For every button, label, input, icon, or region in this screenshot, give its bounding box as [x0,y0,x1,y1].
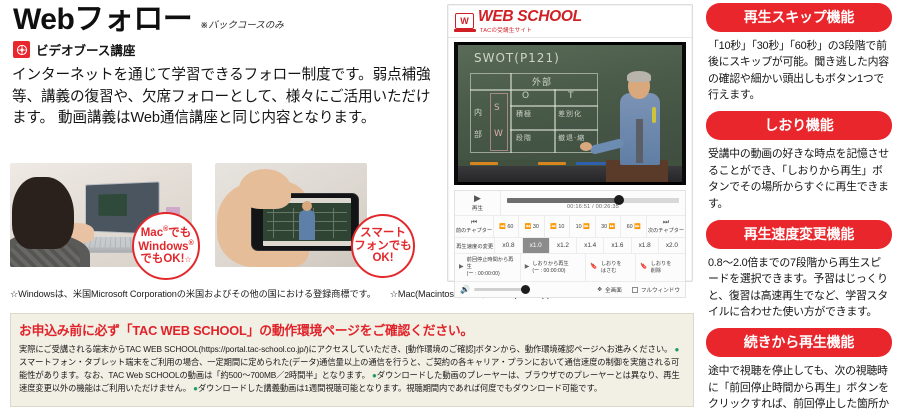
speed-option-x14[interactable]: x1.4 [577,238,604,253]
web-school-logo: WEB SCHOOL [478,9,582,25]
badge-mac-windows-ok: Mac®でも Windows® でもOK!☆ [132,212,200,280]
fullwindow-checkbox[interactable]: フルウィンドウ [632,286,680,294]
badge-phone-line2: フォンでも [354,240,412,253]
volume-row: 🔊 ✥ 全画面 フルウィンドウ [455,282,685,297]
feature-title: しおり機能 [706,111,892,140]
skip-row: ⏮ 前のチャプター ⏪ 60 ⏪ 30 ⏪ 10 10 ⏩ 30 ⏩ 60 ⏩ … [455,216,685,238]
next-chapter-button[interactable]: ⏭ 次のチャプター [647,216,685,237]
trademark-windows: ☆Windowsは、米国Microsoft Corporationの米国およびそ… [10,289,376,299]
badge-mac-line1: Mac®でも [141,226,192,240]
seek-wrap: 00:16:51 / 00:26:35 [501,195,685,212]
webfollow-promo-page: Webフォロー ※バックコースのみ ビデオブース講座 インターネットを通じて学習… [0,0,900,412]
play-icon: ▶ [525,263,530,271]
feature-title: 続きから再生機能 [706,328,892,357]
skip-fwd-10-button[interactable]: 10 ⏩ [570,216,596,237]
web-school-tagline: TACの受講生サイト [480,26,582,34]
speed-option-x16[interactable]: x1.6 [604,238,631,253]
resume-row: ▶ 前回停止時間から再生 (ー : 00:00:00) ▶ しおりから再生 (ー… [455,254,685,282]
left-column: Webフォロー ※バックコースのみ ビデオブース講座 インターネットを通じて学習… [0,0,440,300]
fullscreen-button[interactable]: ✥ 全画面 [597,286,621,294]
badge-mac-line2: Windows® [138,240,194,254]
page-title-row: Webフォロー ※バックコースのみ [13,5,284,35]
badge-smartphone-ok: スマート フォンでも OK! [351,214,415,278]
speed-option-x18[interactable]: x1.8 [632,238,659,253]
volume-slider[interactable] [474,288,530,291]
speed-option-x08[interactable]: x0.8 [495,238,522,253]
web-school-player: W WEB SCHOOL TACの受講生サイト SWOT(P121) 外部 O … [447,4,693,282]
feature-card: 再生速度変更機能 0.8〜2.0倍までの7段階から再生スピードを選択できます。予… [706,220,892,320]
feature-title: 再生速度変更機能 [706,220,892,249]
play-button[interactable]: ▶ 再生 [455,191,501,215]
player-header: W WEB SCHOOL TACの受講生サイト [448,5,692,38]
badge-phone-line3: OK! [372,252,393,265]
course-type-label: ビデオブース講座 [36,40,135,59]
volume-knob[interactable] [521,285,530,294]
video-booth-icon [13,41,30,58]
badge-mac-line3: でもOK!☆ [140,253,191,266]
feature-card: 続きから再生機能 途中で視聴を停止しても、次の視聴時に「前回停止時間から再生」ボ… [706,328,892,412]
bookmark-icon: 🔖 [590,263,597,271]
bookmark-icon: 🔖 [640,263,647,271]
time-display: 00:16:51 / 00:26:35 [507,204,679,210]
feature-list: 再生スキップ機能 「10秒」「30秒」「60秒」の3段階で前後にスキップが可能。… [706,3,892,412]
notice-title: お申込み前に必ず「TAC WEB SCHOOL」の動作環境ページをご確認ください… [19,320,685,339]
feature-body: 0.8〜2.0倍までの7段階から再生スピードを選択できます。予習はじっくりと、復… [706,249,892,320]
notice-line-1: 実際にご受講される端末からTAC WEB SCHOOL(https://port… [19,344,672,354]
notice-line-4: ダウンロードした講義動画は1週間視聴可能となります。視聴期間内であれば何度でもダ… [198,383,602,393]
resume-from-last-stop-button[interactable]: ▶ 前回停止時間から再生 (ー : 00:00:00) [455,254,521,281]
video-stage[interactable]: SWOT(P121) 外部 O T 内 部 S W 積極 差別化 段階 撤退·縮 [454,42,686,185]
lead-description: インターネットを通じて学習できるフォロー制度です。弱点補強等、講義の復習や、欠席… [12,65,437,130]
speed-row-label: 再生速度の変更 [455,238,495,253]
feature-body: 受講中の動画の好きな時点を記憶させることができ、「しおりから再生」ボタンでその場… [706,140,892,211]
operating-environment-notice: お申込み前に必ず「TAC WEB SCHOOL」の動作環境ページをご確認ください… [10,313,694,407]
page-title: Webフォロー [13,5,192,35]
skip-back-30-button[interactable]: ⏪ 30 [519,216,545,237]
feature-card: しおり機能 受講中の動画の好きな時点を記憶させることができ、「しおりから再生」ボ… [706,111,892,211]
speed-option-x20[interactable]: x2.0 [659,238,685,253]
skip-back-10-button[interactable]: ⏪ 10 [545,216,571,237]
skip-fwd-60-button[interactable]: 60 ⏩ [621,216,647,237]
page-title-note: ※バックコースのみ [200,17,284,31]
course-type-row: ビデオブース講座 [13,40,135,59]
feature-title: 再生スキップ機能 [706,3,892,32]
notice-body: 実際にご受講される端末からTAC WEB SCHOOL(https://port… [19,343,685,395]
skip-back-60-button[interactable]: ⏪ 60 [494,216,520,237]
feature-body: 「10秒」「30秒」「60秒」の3段階で前後にスキップが可能。聞き逃した内容の確… [706,32,892,103]
prev-chapter-button[interactable]: ⏮ 前のチャプター [455,216,494,237]
add-bookmark-button[interactable]: 🔖 しおりを はさむ [586,254,636,281]
speed-option-x10[interactable]: x1.0 [523,238,550,253]
seek-slider[interactable] [507,198,679,203]
badge-phone-line1: スマート [360,227,406,240]
seek-knob[interactable] [614,195,624,205]
photo-smartphone [215,163,367,267]
resume-from-bookmark-button[interactable]: ▶ しおりから再生 (ー : 00:00:00) [521,254,587,281]
next-chapter-icon: ⏭ [663,219,669,226]
seek-row: ▶ 再生 00:16:51 / 00:26:35 [455,191,685,216]
bullet-icon: ● [674,345,679,354]
delete-bookmark-button[interactable]: 🔖 しおりを 削除 [636,254,685,281]
monitor-w-icon: W [455,13,474,29]
volume-icon[interactable]: 🔊 [460,285,470,294]
player-controls: ▶ 再生 00:16:51 / 00:26:35 ⏮ 前のチャプター ⏪ 60 [454,190,686,298]
prev-chapter-icon: ⏮ [471,219,477,226]
skip-fwd-30-button[interactable]: 30 ⏩ [596,216,622,237]
play-icon: ▶ [455,194,500,203]
checkbox-icon [632,287,638,293]
fullscreen-icon: ✥ [597,287,602,293]
play-icon: ▶ [459,263,464,271]
speed-row: 再生速度の変更 x0.8 x1.0 x1.2 x1.4 x1.6 x1.8 x2… [455,238,685,254]
feature-body: 途中で視聴を停止しても、次の視聴時に「前回停止時間から再生」ボタンをクリックすれ… [706,357,892,412]
feature-card: 再生スキップ機能 「10秒」「30秒」「60秒」の3段階で前後にスキップが可能。… [706,3,892,103]
speed-option-x12[interactable]: x1.2 [550,238,577,253]
